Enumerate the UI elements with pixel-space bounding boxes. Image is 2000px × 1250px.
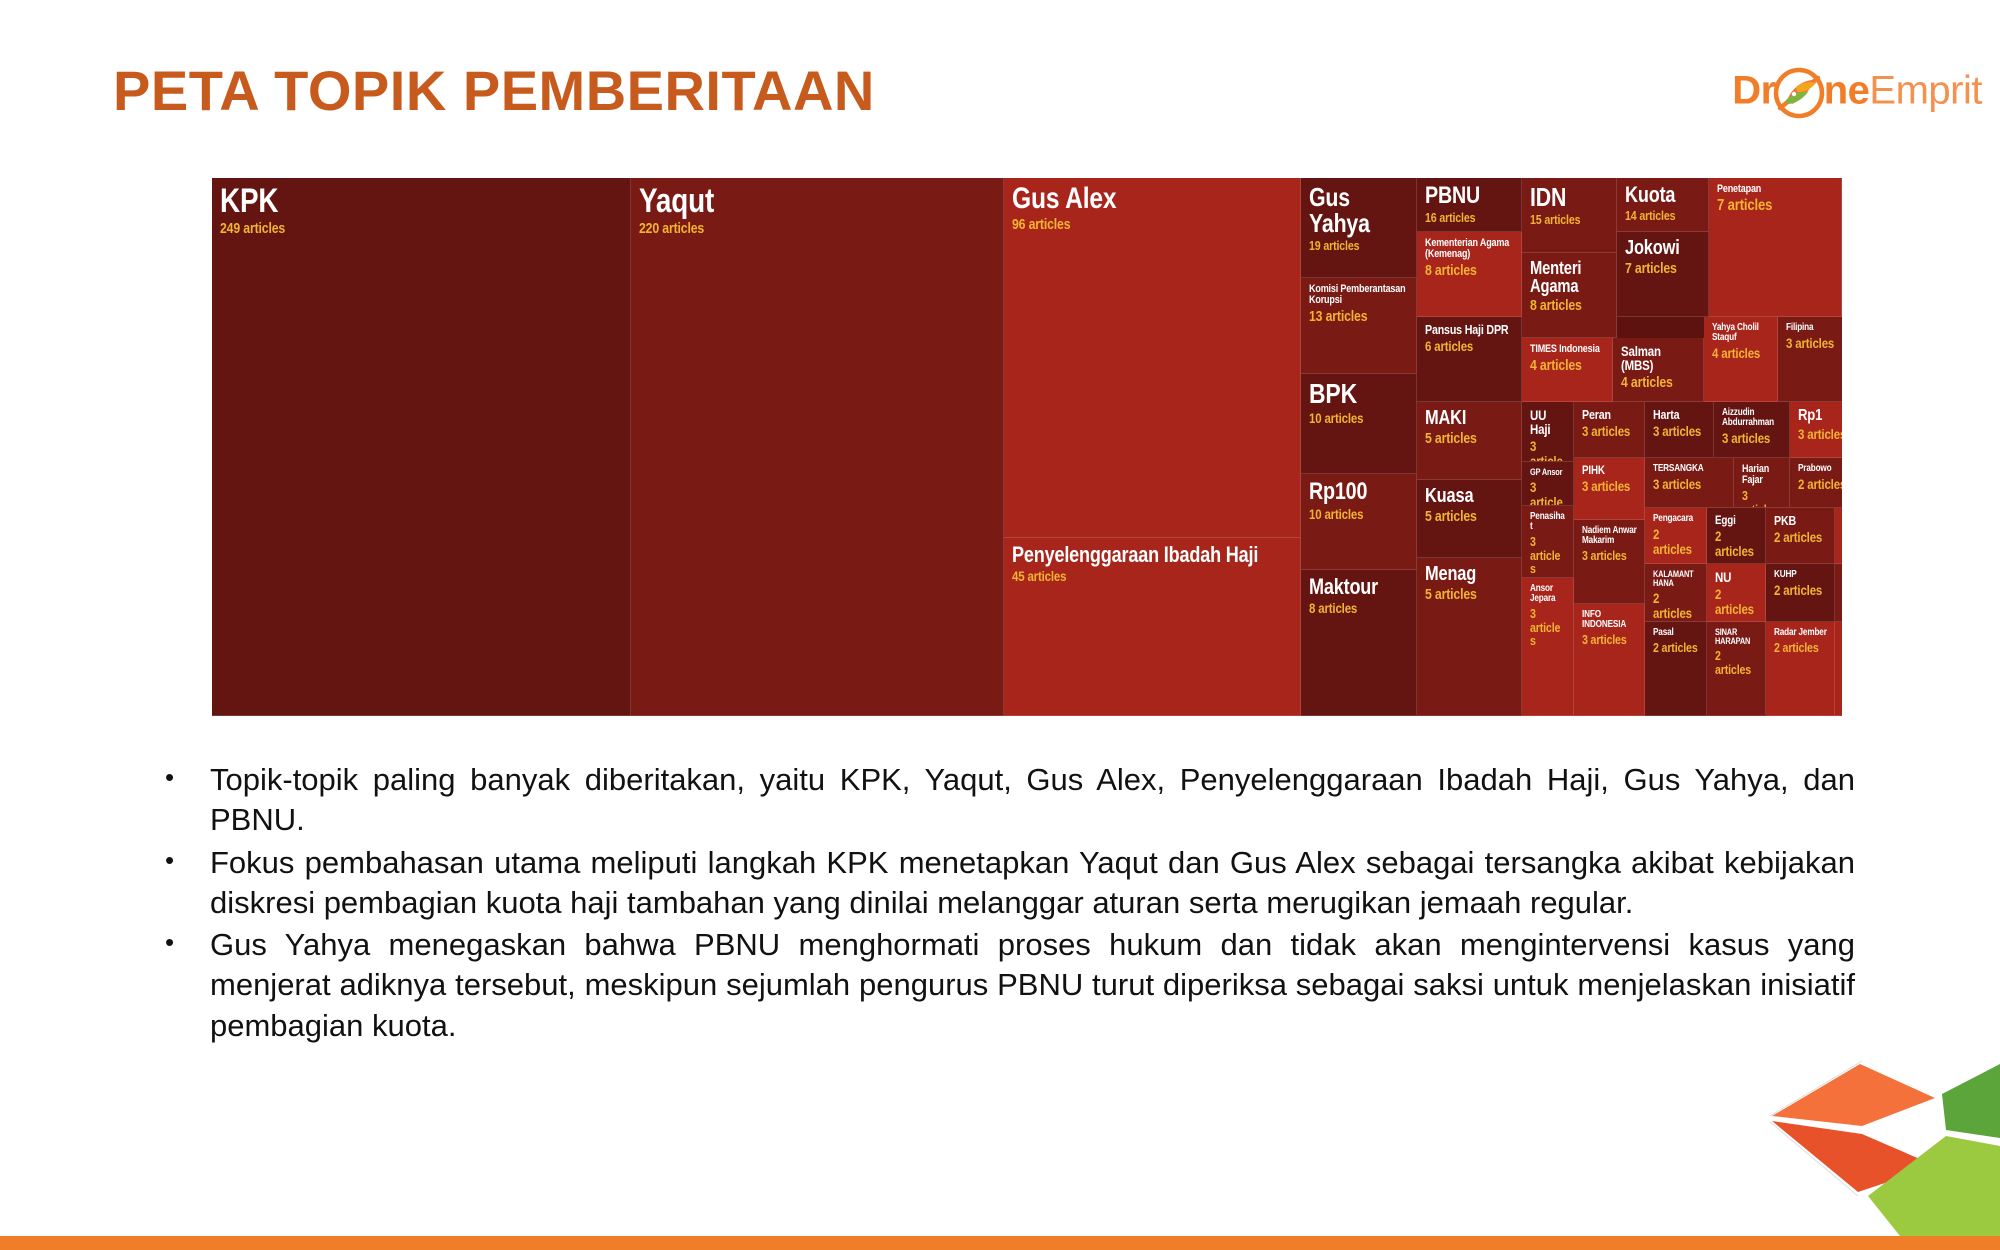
treemap-cell[interactable]: GP Ansor3 articles: [1522, 462, 1574, 506]
treemap-cell[interactable]: Jokowi7 articles: [1617, 232, 1709, 317]
treemap-cell-label: PKB: [1774, 514, 1827, 527]
treemap-cell-value: 8 articles: [1530, 298, 1609, 314]
treemap-cell[interactable]: Gus Alex96 articles: [1004, 178, 1301, 538]
treemap-cell-value: 5 articles: [1425, 509, 1515, 525]
treemap-cell-value: 2 articles: [1653, 641, 1698, 655]
logo-text-ne: ne: [1824, 69, 1870, 113]
treemap-cell-value: 3 articles: [1653, 477, 1725, 492]
treemap-cell-value: 2 articles: [1774, 641, 1827, 655]
treemap-cell[interactable]: SINAR HARAPAN2 articles: [1707, 622, 1766, 716]
treemap-cell-label: BPK: [1309, 380, 1409, 408]
treemap-cell-value: 3 articles: [1582, 549, 1637, 563]
treemap-cell[interactable]: Pengacara2 articles: [1645, 508, 1706, 564]
treemap-cell-value: 8 articles: [1309, 601, 1409, 616]
treemap-cell[interactable]: Pengembalian2 articles: [1835, 508, 1842, 564]
treemap-cell[interactable]: PBNU16 articles: [1417, 178, 1523, 232]
treemap-cell-label: Jokowi: [1625, 238, 1701, 258]
treemap-cell[interactable]: Yahya Cholil Staquf4 articles: [1704, 317, 1778, 402]
treemap-cell-value: 2 articles: [1774, 583, 1827, 598]
logo-text: Dr neEmprit: [1732, 64, 1982, 122]
treemap-cell-value: 13 articles: [1309, 309, 1409, 325]
treemap-cell-label: TERSANGKA: [1653, 464, 1725, 474]
treemap-cell-label: Pasal: [1653, 628, 1698, 638]
treemap-cell-label: Penasihat: [1530, 512, 1566, 532]
bottom-accent-bar: [0, 1236, 2000, 1250]
treemap-cell-value: 3 articles: [1582, 479, 1637, 494]
treemap-cell[interactable]: Penasihat3 articles: [1522, 506, 1574, 578]
treemap-cell-label: PBNU: [1425, 184, 1515, 208]
treemap-cell-label: INFO INDONESIA: [1582, 610, 1637, 630]
treemap-cell-label: IDN: [1530, 184, 1609, 210]
treemap-cell[interactable]: KALAMANTHANA2 articles: [1645, 564, 1706, 622]
treemap-cell-value: 3 articles: [1582, 424, 1637, 439]
treemap-cell[interactable]: KUHP2 articles: [1766, 564, 1835, 622]
treemap-cell-value: 15 articles: [1530, 213, 1609, 227]
treemap-cell-value: 5 articles: [1425, 431, 1515, 447]
treemap-cell-value: 2 articles: [1653, 591, 1698, 620]
treemap-cell[interactable]: Rp10010 articles: [1301, 474, 1417, 570]
treemap-cell-value: 2 articles: [1774, 530, 1827, 545]
treemap-cell-value: 3 articles: [1582, 633, 1637, 647]
treemap-cell-value: 3 articles: [1653, 424, 1706, 439]
treemap-cell-label: Yahya Cholil Staquf: [1712, 323, 1770, 343]
treemap-cell[interactable]: TIMES Indonesia4 articles: [1522, 338, 1613, 402]
topic-treemap-chart: KPK249 articlesYaqut220 articlesGus Alex…: [212, 178, 1842, 716]
treemap-cell[interactable]: Pasal2 articles: [1645, 622, 1706, 716]
treemap-cell-value: 3 articles: [1530, 607, 1566, 648]
treemap-cell[interactable]: Harta3 articles: [1645, 402, 1714, 458]
treemap-cell-value: 220 articles: [639, 221, 995, 237]
treemap-cell-label: Radar Jember: [1774, 628, 1827, 638]
treemap-cell-value: 19 articles: [1309, 239, 1409, 253]
page-title: PETA TOPIK PEMBERITAAN: [113, 58, 875, 123]
treemap-cell-value: 3 articles: [1742, 489, 1783, 508]
corner-decoration: [1750, 1006, 2000, 1236]
treemap-cell-label: KUHP: [1774, 570, 1827, 580]
treemap-cell[interactable]: Yaqut220 articles: [631, 178, 1003, 716]
treemap-cell[interactable]: Venezuela2 articles: [1835, 564, 1842, 622]
treemap-cell[interactable]: Nadiem Anwar Makarim3 articles: [1574, 520, 1645, 604]
treemap-cell-label: PIHK: [1582, 464, 1637, 476]
treemap-cell[interactable]: Penyelenggaraan Ibadah Haji45 articles: [1004, 538, 1301, 716]
treemap-cell-label: UU Haji: [1530, 408, 1566, 436]
treemap-cell-label: Filipina: [1786, 323, 1836, 333]
treemap-cell[interactable]: RADAR BALI2 articles: [1835, 622, 1842, 716]
treemap-cell-value: 249 articles: [220, 221, 623, 237]
treemap-cell-label: Gus Alex: [1012, 184, 1293, 214]
treemap-cell[interactable]: MAKI5 articles: [1417, 402, 1523, 480]
treemap-cell-label: Ansor Jepara: [1530, 584, 1566, 604]
treemap-cell-value: 5 articles: [1425, 587, 1515, 603]
treemap-cell-value: 2 articles: [1798, 477, 1842, 492]
treemap-cell-value: 2 articles: [1715, 649, 1758, 676]
treemap-cell[interactable]: Ansor Jepara3 articles: [1522, 578, 1574, 716]
bullet-text: Topik-topik paling banyak diberitakan, y…: [210, 760, 1855, 841]
list-item: • Topik-topik paling banyak diberitakan,…: [165, 760, 1855, 841]
treemap-cell-value: 2 articles: [1653, 527, 1698, 556]
treemap-cell[interactable]: Penetapan7 articles: [1709, 178, 1842, 317]
treemap-cell-value: 6 articles: [1425, 339, 1515, 354]
treemap-cell-label: Pengacara: [1653, 514, 1698, 524]
treemap-cell-value: 7 articles: [1625, 261, 1701, 277]
treemap-cell-label: Pansus Haji DPR: [1425, 323, 1515, 336]
treemap-cell-label: Yaqut: [639, 184, 995, 218]
treemap-cell-value: 2 articles: [1715, 529, 1758, 558]
treemap-cell-label: MAKI: [1425, 408, 1515, 428]
treemap-cell[interactable]: NU2 articles: [1707, 564, 1766, 622]
treemap-cell-label: SINAR HARAPAN: [1715, 628, 1758, 646]
treemap-cell[interactable]: Rp13 articles: [1790, 402, 1842, 458]
treemap-cell[interactable]: Komisi Pemberantasan Korupsi13 articles: [1301, 278, 1417, 374]
treemap-cell[interactable]: KPK249 articles: [212, 178, 631, 716]
treemap-cell-value: 4 articles: [1621, 375, 1696, 391]
treemap-cell-value: 3 articles: [1798, 427, 1842, 442]
drone-emprit-logo: Dr neEmprit: [1732, 62, 1982, 124]
treemap-cell[interactable]: Kementerian Agama (Kemenag)8 articles: [1417, 232, 1523, 317]
logo-text-emprit: Emprit: [1869, 69, 1982, 113]
treemap-cell-label: Aizzudin Abdurrahman: [1722, 408, 1782, 428]
drone-bird-icon: [1770, 64, 1828, 122]
treemap-cell-value: 4 articles: [1712, 346, 1770, 361]
treemap-cell-label: NU: [1715, 570, 1758, 584]
treemap-cell[interactable]: Menag5 articles: [1417, 558, 1523, 716]
treemap-cell[interactable]: PKB2 articles: [1766, 508, 1835, 564]
treemap-cell[interactable]: Eggi2 articles: [1707, 508, 1766, 564]
treemap-cell[interactable]: PIHK3 articles: [1574, 458, 1645, 520]
treemap-cell[interactable]: Kuota14 articles: [1617, 178, 1709, 232]
treemap-cell-value: 3 articles: [1722, 431, 1782, 446]
bullet-marker: •: [165, 843, 210, 924]
treemap-cell-value: 16 articles: [1425, 211, 1515, 225]
treemap-cell-label: Maktour: [1309, 576, 1409, 598]
treemap-cell[interactable]: Prabowo2 articles: [1790, 458, 1842, 508]
treemap-cell-value: 8 articles: [1425, 263, 1515, 279]
treemap-cell-label: Penetapan: [1717, 184, 1834, 195]
treemap-cell[interactable]: Aizzudin Abdurrahman3 articles: [1714, 402, 1790, 458]
bullet-text: Fokus pembahasan utama meliputi langkah …: [210, 843, 1855, 924]
treemap-cell[interactable]: BPK10 articles: [1301, 374, 1417, 474]
treemap-cell[interactable]: Radar Jember2 articles: [1766, 622, 1835, 716]
treemap-cell-label: Harta: [1653, 408, 1706, 421]
treemap-cell-label: Gus Yahya: [1309, 184, 1409, 236]
treemap-cell[interactable]: Pansus Haji DPR6 articles: [1417, 317, 1523, 402]
treemap-cell-label: Salman (MBS): [1621, 344, 1696, 372]
treemap-cell-label: TIMES Indonesia: [1530, 344, 1605, 355]
treemap-cell-value: 3 articles: [1530, 439, 1566, 462]
treemap-cell-label: Kementerian Agama (Kemenag): [1425, 238, 1515, 260]
treemap-cell-label: Kuota: [1625, 184, 1701, 206]
treemap-cell-value: 10 articles: [1309, 411, 1409, 426]
treemap-cell[interactable]: Menteri Agama8 articles: [1522, 253, 1617, 338]
treemap-cell-value: 14 articles: [1625, 209, 1701, 223]
list-item: • Gus Yahya menegaskan bahwa PBNU mengho…: [165, 925, 1855, 1046]
bullet-list: • Topik-topik paling banyak diberitakan,…: [165, 760, 1855, 1048]
treemap-cell-label: Rp100: [1309, 480, 1409, 504]
treemap-cell-label: Menteri Agama: [1530, 259, 1609, 295]
treemap-cell[interactable]: Salman (MBS)4 articles: [1613, 338, 1704, 402]
bullet-marker: •: [165, 925, 210, 1046]
treemap-cell-label: Penyelenggaraan Ibadah Haji: [1012, 544, 1293, 566]
treemap-cell-value: 3 articles: [1530, 535, 1566, 576]
treemap-cell[interactable]: UU Haji3 articles: [1522, 402, 1574, 462]
treemap-cell-value: 3 articles: [1530, 480, 1566, 506]
treemap-cell[interactable]: TERSANGKA3 articles: [1645, 458, 1734, 508]
treemap-cell-value: 45 articles: [1012, 569, 1293, 584]
treemap-cell[interactable]: IDN15 articles: [1522, 178, 1617, 253]
treemap-cell-label: GP Ansor: [1530, 468, 1566, 477]
treemap-cell-value: 7 articles: [1717, 198, 1834, 215]
treemap-cell-label: Rp1: [1798, 408, 1842, 424]
treemap-cell[interactable]: Gus Yahya19 articles: [1301, 178, 1417, 278]
treemap-cell[interactable]: Kuasa5 articles: [1417, 480, 1523, 558]
treemap-cell[interactable]: Peran3 articles: [1574, 402, 1645, 458]
list-item: • Fokus pembahasan utama meliputi langka…: [165, 843, 1855, 924]
bullet-marker: •: [165, 760, 210, 841]
treemap-cell-label: Kuasa: [1425, 486, 1515, 506]
treemap-cell[interactable]: INFO INDONESIA3 articles: [1574, 604, 1645, 716]
treemap-cell-label: Nadiem Anwar Makarim: [1582, 526, 1637, 546]
treemap-cell-label: Komisi Pemberantasan Korupsi: [1309, 284, 1409, 306]
treemap-cell-label: Eggi: [1715, 514, 1758, 526]
treemap-cell-label: Menag: [1425, 564, 1515, 584]
treemap-cell-label: KPK: [220, 184, 623, 218]
treemap-cell[interactable]: Maktour8 articles: [1301, 570, 1417, 716]
treemap-cell-value: 96 articles: [1012, 217, 1293, 233]
treemap-cell-label: Harian Fajar: [1742, 464, 1783, 486]
bullet-text: Gus Yahya menegaskan bahwa PBNU menghorm…: [210, 925, 1855, 1046]
treemap-cell-value: 4 articles: [1530, 358, 1605, 374]
treemap-cell[interactable]: Filipina3 articles: [1778, 317, 1842, 402]
treemap-cell-value: 2 articles: [1715, 587, 1758, 616]
treemap-cell-label: Prabowo: [1798, 464, 1842, 474]
treemap-cell-label: Peran: [1582, 408, 1637, 421]
treemap-cell-value: 10 articles: [1309, 507, 1409, 522]
treemap-cell-value: 3 articles: [1786, 336, 1836, 351]
treemap-cell-label: KALAMANTHANA: [1653, 570, 1698, 588]
treemap-cell[interactable]: Harian Fajar3 articles: [1734, 458, 1791, 508]
